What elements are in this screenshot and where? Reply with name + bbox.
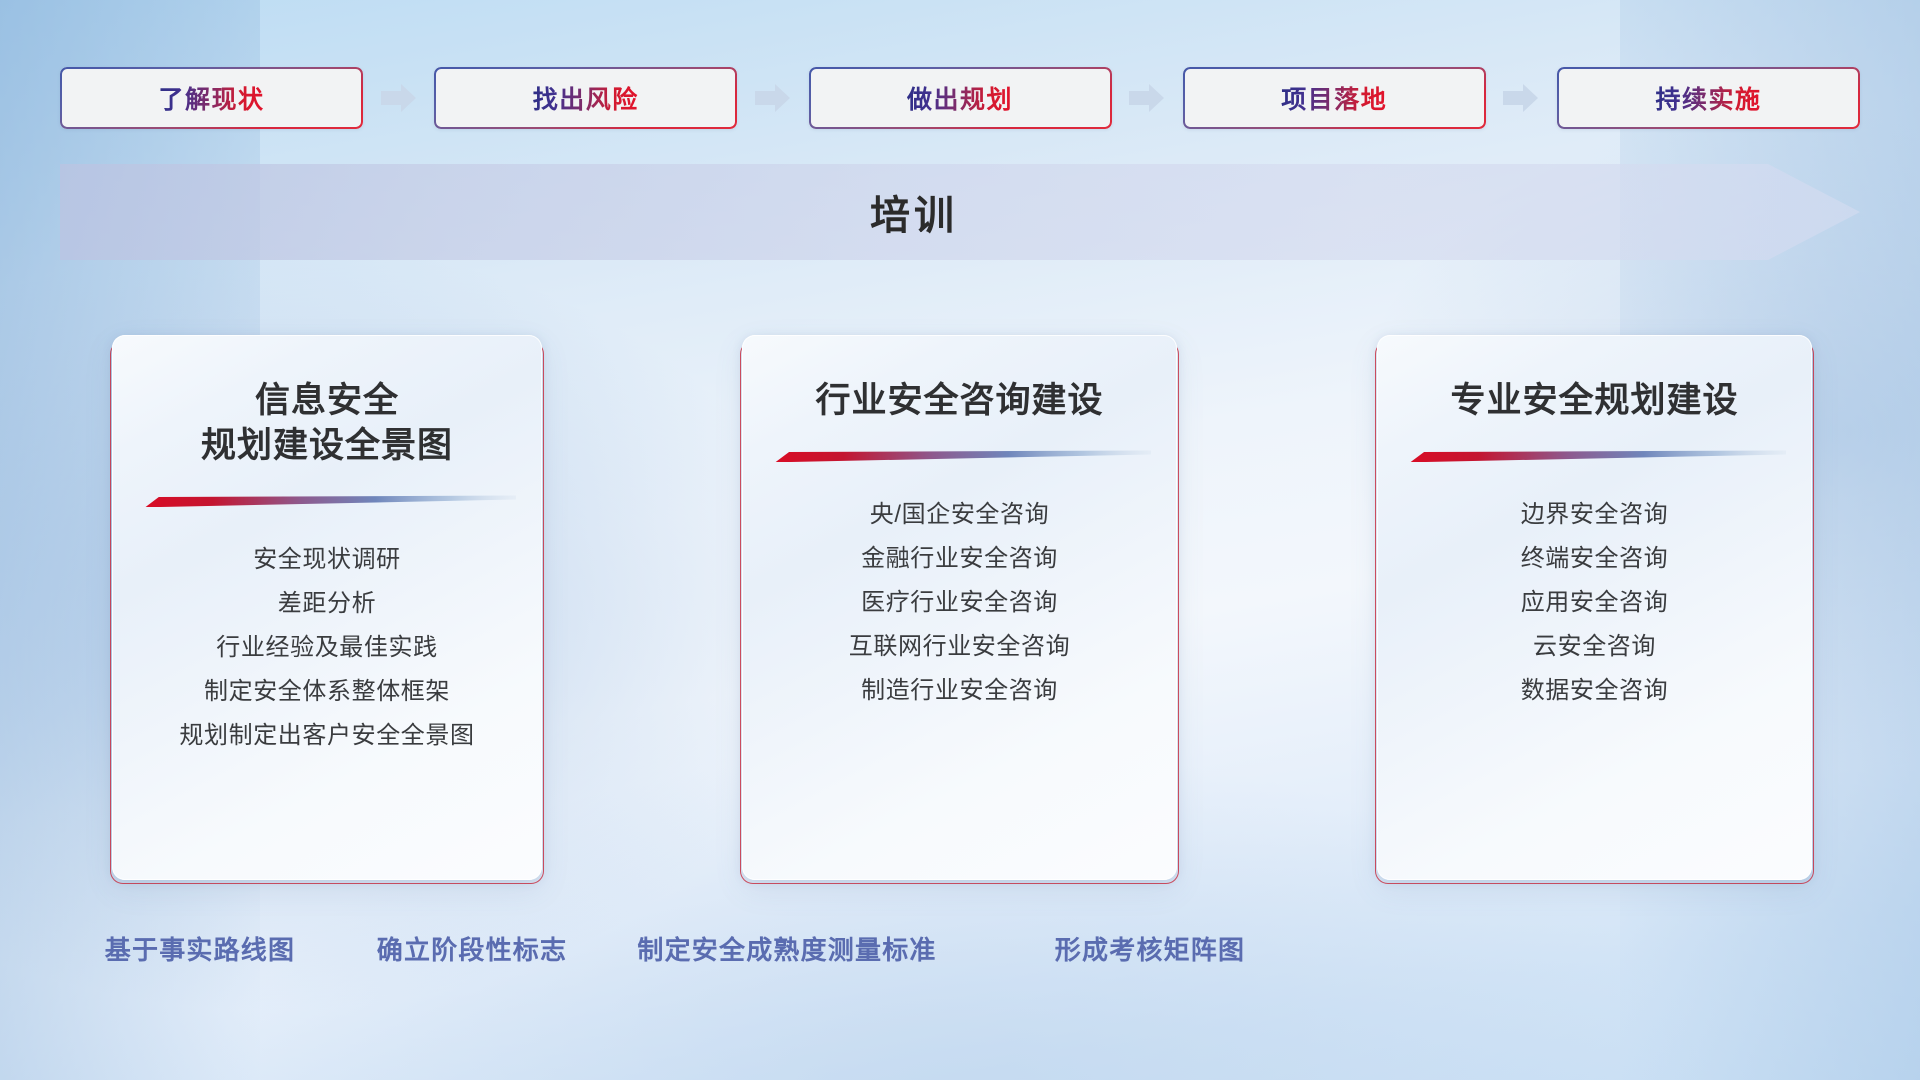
list-item: 安全现状调研 <box>138 538 516 582</box>
card-item-list: 央/国企安全咨询金融行业安全咨询医疗行业安全咨询互联网行业安全咨询制造行业安全咨… <box>768 493 1151 713</box>
list-item: 终端安全咨询 <box>1403 537 1786 581</box>
list-item: 差距分析 <box>138 582 516 626</box>
card-title: 信息安全 规划建设全景图 <box>201 379 453 469</box>
list-item: 金融行业安全咨询 <box>768 537 1151 581</box>
list-item: 云安全咨询 <box>1403 625 1786 669</box>
service-card-3[interactable]: 专业安全规划建设边界安全咨询终端安全咨询应用安全咨询云安全咨询数据安全咨询 <box>1377 335 1812 880</box>
step-label: 持续实施 <box>1655 80 1761 116</box>
service-card-1[interactable]: 信息安全 规划建设全景图安全现状调研差距分析行业经验及最佳实践制定安全体系整体框… <box>112 335 542 880</box>
banner-title: 培训 <box>60 164 1768 260</box>
step-label: 找出风险 <box>533 80 639 116</box>
list-item: 制造行业安全咨询 <box>768 669 1151 713</box>
card-item-list: 边界安全咨询终端安全咨询应用安全咨询云安全咨询数据安全咨询 <box>1403 493 1786 713</box>
list-item: 互联网行业安全咨询 <box>768 625 1151 669</box>
step-button-5[interactable]: 持续实施 <box>1557 67 1860 129</box>
card-title: 行业安全咨询建设 <box>815 379 1103 424</box>
training-banner: 培训 <box>60 164 1860 260</box>
list-item: 医疗行业安全咨询 <box>768 581 1151 625</box>
list-item: 央/国企安全咨询 <box>768 493 1151 537</box>
arrow-right-icon <box>755 83 791 113</box>
bottom-label-4: 形成考核矩阵图 <box>1055 930 1245 967</box>
gradient-divider-icon <box>1403 450 1786 463</box>
step-button-1[interactable]: 了解现状 <box>60 67 363 129</box>
bottom-label-1: 基于事实路线图 <box>105 930 295 967</box>
step-label: 项目落地 <box>1281 80 1387 116</box>
process-step-row: 了解现状找出风险做出规划项目落地持续实施 <box>60 67 1860 129</box>
step-button-2[interactable]: 找出风险 <box>434 67 737 129</box>
list-item: 制定安全体系整体框架 <box>138 670 516 714</box>
bottom-label-2: 确立阶段性标志 <box>377 930 567 967</box>
gradient-divider-icon <box>768 450 1151 463</box>
bottom-label-row: 基于事实路线图确立阶段性标志制定安全成熟度测量标准形成考核矩阵图 <box>0 930 1920 974</box>
card-title: 专业安全规划建设 <box>1450 379 1738 424</box>
list-item: 应用安全咨询 <box>1403 581 1786 625</box>
card-item-list: 安全现状调研差距分析行业经验及最佳实践制定安全体系整体框架规划制定出客户安全全景… <box>138 538 516 758</box>
list-item: 行业经验及最佳实践 <box>138 626 516 670</box>
step-label: 了解现状 <box>158 80 264 116</box>
step-button-4[interactable]: 项目落地 <box>1183 67 1486 129</box>
service-card-2[interactable]: 行业安全咨询建设央/国企安全咨询金融行业安全咨询医疗行业安全咨询互联网行业安全咨… <box>742 335 1177 880</box>
slide-canvas: 了解现状找出风险做出规划项目落地持续实施 培训 信息安全 规划建设全景图安全现状… <box>0 0 1920 1080</box>
step-label: 做出规划 <box>907 80 1013 116</box>
list-item: 规划制定出客户安全全景图 <box>138 714 516 758</box>
bottom-label-3: 制定安全成熟度测量标准 <box>637 930 936 967</box>
card-row: 信息安全 规划建设全景图安全现状调研差距分析行业经验及最佳实践制定安全体系整体框… <box>112 335 1812 880</box>
arrow-right-icon <box>381 83 417 113</box>
step-button-3[interactable]: 做出规划 <box>809 67 1112 129</box>
gradient-divider-icon <box>138 495 516 508</box>
list-item: 边界安全咨询 <box>1403 493 1786 537</box>
list-item: 数据安全咨询 <box>1403 669 1786 713</box>
arrow-right-icon <box>1503 83 1539 113</box>
arrow-right-icon <box>1129 83 1165 113</box>
